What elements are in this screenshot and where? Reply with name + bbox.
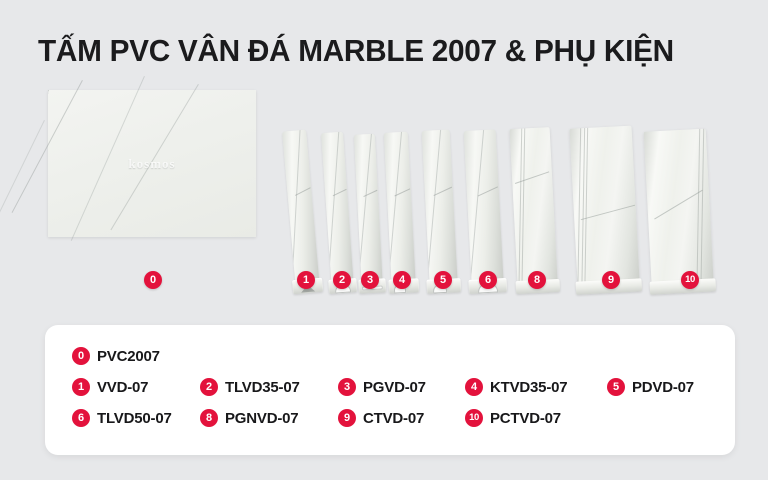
legend-code: TLVD50-07	[97, 410, 172, 427]
legend-code: PCTVD-07	[490, 410, 561, 427]
legend-badge: 9	[338, 409, 356, 427]
profile-vein-icon	[654, 189, 702, 219]
profile-strip-5	[422, 129, 458, 290]
legend-row-1: 0 PVC2007	[45, 347, 735, 377]
legend-item-10[interactable]: 10 PCTVD-07	[465, 409, 561, 427]
watermark-text: kosmos	[128, 156, 175, 172]
legend-badge: 2	[200, 378, 218, 396]
legend-badge: 0	[72, 347, 90, 365]
legend-code: PGNVD-07	[225, 410, 298, 427]
profile-strip-4	[384, 132, 416, 291]
legend-item-6[interactable]: 6 TLVD50-07	[72, 409, 172, 427]
legend-code: TLVD35-07	[225, 379, 300, 396]
profile-body	[644, 129, 714, 292]
legend-badge: 1	[72, 378, 90, 396]
stage-badge-1: 1	[297, 271, 315, 289]
profile-rib-icon	[585, 126, 589, 292]
legend-badge: 10	[465, 409, 483, 427]
stage-badge-9: 9	[602, 271, 620, 289]
legend-item-4[interactable]: 4 KTVD35-07	[465, 378, 567, 396]
profile-body	[282, 130, 320, 291]
stage-badge-10: 10	[681, 271, 699, 289]
legend-item-3[interactable]: 3 PGVD-07	[338, 378, 426, 396]
profile-body	[354, 134, 383, 291]
legend-badge: 6	[72, 409, 90, 427]
legend-item-2[interactable]: 2 TLVD35-07	[200, 378, 300, 396]
product-poster: TẤM PVC VÂN ĐÁ MARBLE 2007 & PHỤ KIỆN ko…	[0, 0, 768, 480]
marble-sheet-image: kosmos	[48, 90, 256, 237]
profile-strip-10	[644, 129, 714, 292]
legend-badge: 5	[607, 378, 625, 396]
legend-code: VVD-07	[97, 379, 148, 396]
marble-vein-icon	[12, 80, 83, 213]
stage-badge-5: 5	[434, 271, 452, 289]
profile-strip-1	[282, 130, 320, 291]
profile-rib-icon	[577, 126, 581, 292]
legend-code: KTVD35-07	[490, 379, 567, 396]
profile-strip-9	[570, 126, 640, 292]
profile-body	[422, 129, 458, 290]
profile-rib-icon	[696, 129, 700, 292]
legend-card: 0 PVC2007 1 VVD-07 2 TLVD35-07 3 PGVD-07…	[45, 325, 735, 455]
legend-code: CTVD-07	[363, 410, 424, 427]
profile-body	[464, 129, 504, 290]
profile-body	[321, 132, 354, 291]
legend-item-0[interactable]: 0 PVC2007	[72, 347, 160, 365]
legend-item-5[interactable]: 5 PDVD-07	[607, 378, 694, 396]
profile-body	[570, 126, 640, 292]
stage-badge-4: 4	[393, 271, 411, 289]
page-title: TẤM PVC VÂN ĐÁ MARBLE 2007 & PHỤ KIỆN	[38, 33, 674, 69]
profile-rib-icon	[700, 129, 704, 292]
legend-row-3: 6 TLVD50-07 8 PGNVD-07 9 CTVD-07 10 PCTV…	[45, 409, 735, 439]
profile-body	[384, 132, 416, 291]
legend-row-2: 1 VVD-07 2 TLVD35-07 3 PGVD-07 4 KTVD35-…	[45, 378, 735, 408]
profile-strip-2	[321, 132, 354, 291]
marble-vein-icon	[0, 120, 45, 246]
legend-badge: 3	[338, 378, 356, 396]
stage-badge-6: 6	[479, 271, 497, 289]
profile-body	[510, 127, 558, 291]
stage-badge-3: 3	[361, 271, 379, 289]
legend-badge: 8	[200, 409, 218, 427]
profile-rib-icon	[521, 127, 525, 291]
product-photo-stage: kosmos	[0, 85, 768, 290]
profile-vein-icon	[581, 204, 635, 220]
legend-code: PGVD-07	[363, 379, 426, 396]
legend-item-8[interactable]: 8 PGNVD-07	[200, 409, 298, 427]
legend-code: PVC2007	[97, 348, 160, 365]
legend-badge: 4	[465, 378, 483, 396]
legend-item-9[interactable]: 9 CTVD-07	[338, 409, 424, 427]
profile-strip-6	[464, 129, 504, 290]
legend-code: PDVD-07	[632, 379, 694, 396]
stage-badge-0: 0	[144, 271, 162, 289]
stage-badge-8: 8	[528, 271, 546, 289]
profile-strip-3	[354, 134, 383, 291]
profile-strip-8	[510, 127, 558, 291]
legend-item-1[interactable]: 1 VVD-07	[72, 378, 148, 396]
stage-badge-2: 2	[333, 271, 351, 289]
